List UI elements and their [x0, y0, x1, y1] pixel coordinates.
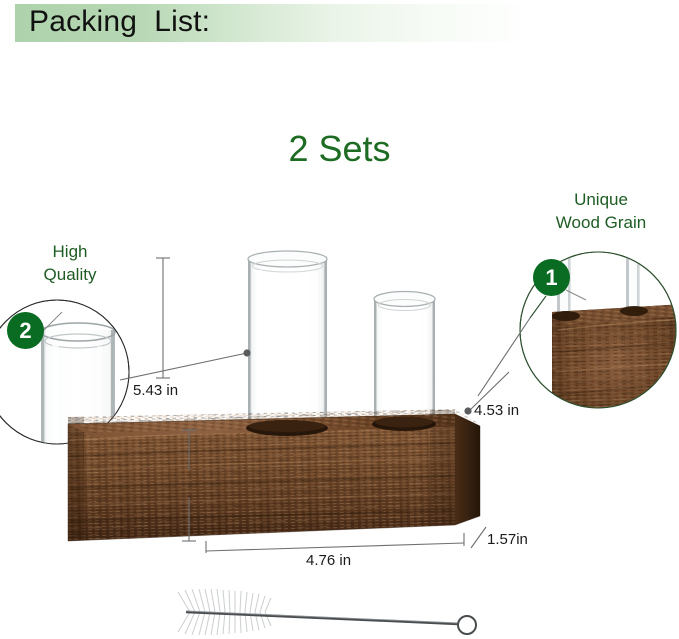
- dimension-annotations: [0, 0, 679, 639]
- packing-list-page: Packing List: 2 Sets: [0, 0, 679, 639]
- badge-1-leader-to-product: [478, 318, 530, 396]
- callout-badge-2[interactable]: 2: [7, 312, 44, 349]
- leader-dot-short-tube: [464, 407, 471, 414]
- leader-dot-tall-tube: [243, 349, 250, 356]
- badge-2-leader: [44, 312, 62, 330]
- callout-badge-1[interactable]: 1: [533, 259, 570, 296]
- badge-1-leader-lower: [530, 296, 546, 318]
- badge-1-leader: [566, 290, 586, 300]
